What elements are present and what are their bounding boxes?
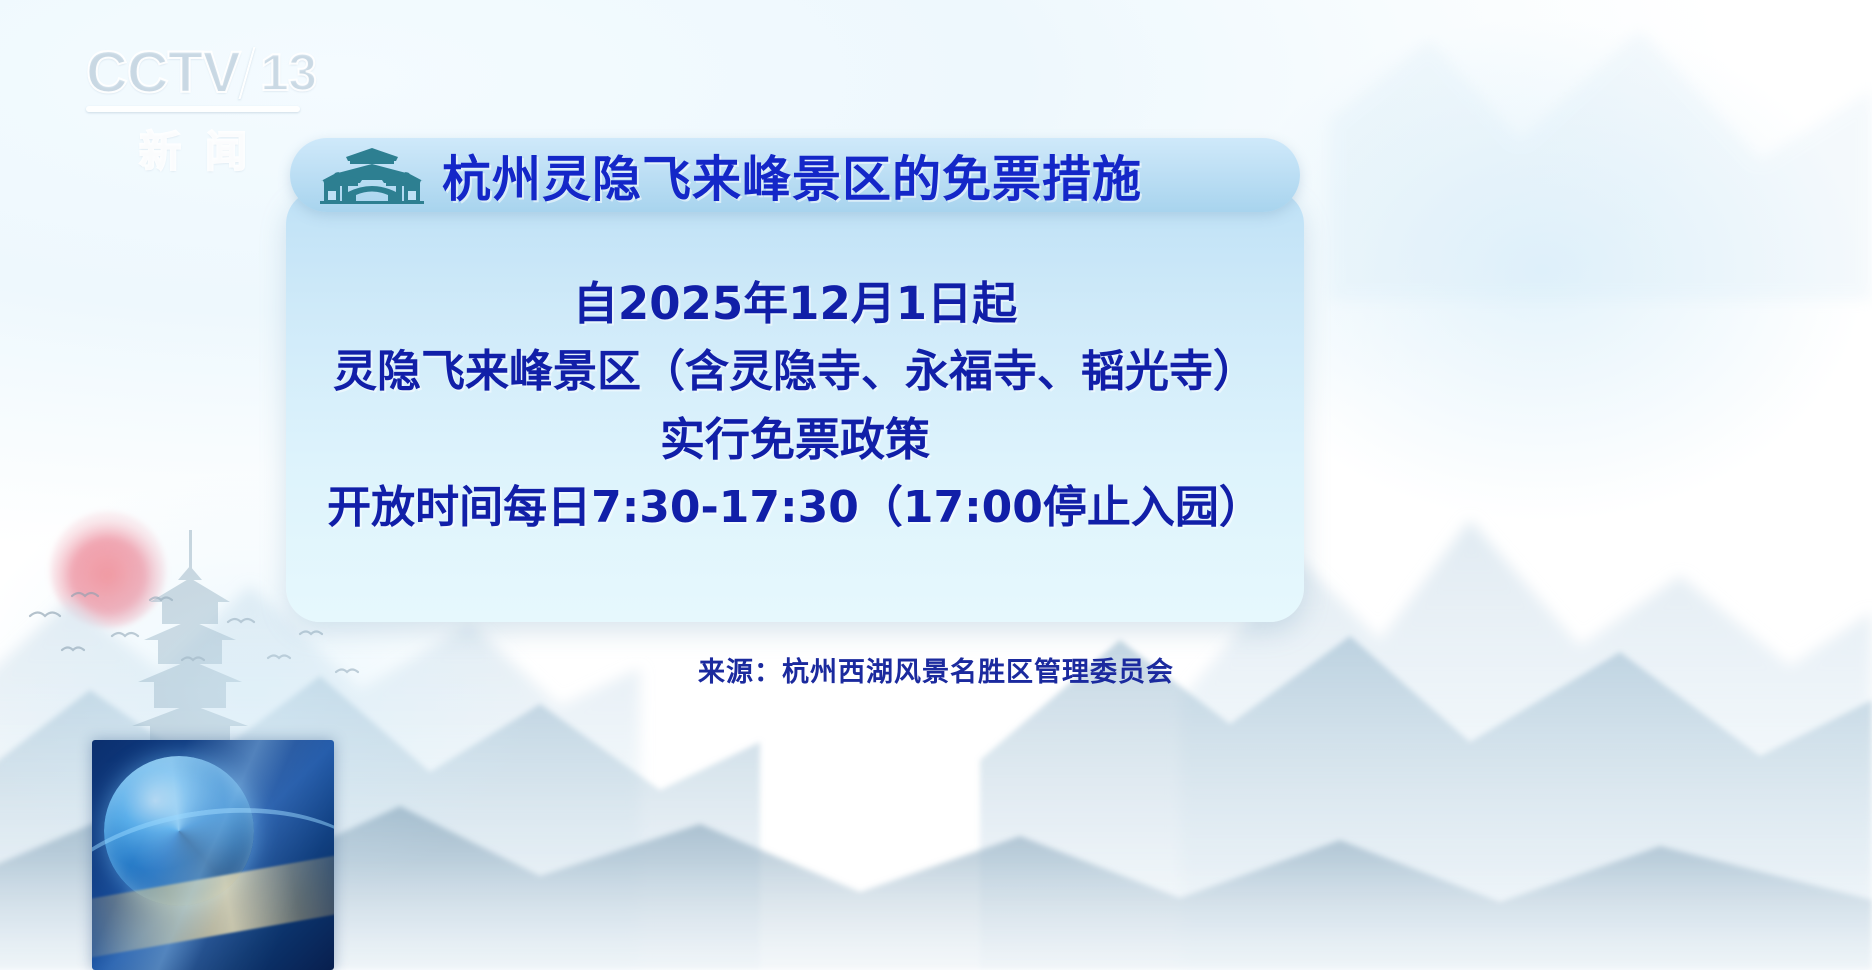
card-body-line-1: 自2025年12月1日起: [573, 270, 1017, 338]
card-body-line-2: 灵隐飞来峰景区（含灵隐寺、永福寺、韬光寺）: [333, 338, 1257, 406]
sheen-overlay: [92, 740, 334, 970]
card-title-pill: 杭州灵隐飞来峰景区的免票措施: [290, 138, 1300, 212]
broadcast-graphic-stage: CCTV 13 新闻: [0, 0, 1872, 970]
chinese-gate-paifang-icon: [320, 146, 424, 204]
card-body-line-3: 实行免票政策: [660, 406, 930, 474]
card-body-line-4: 开放时间每日7:30-17:30（17:00停止入园）: [327, 474, 1263, 542]
upper-right-peaks: [1330, 30, 1872, 300]
news-globe-bug-icon: [92, 740, 334, 970]
source-attribution: 来源：杭州西湖风景名胜区管理委员会: [0, 650, 1872, 689]
card-title: 杭州灵隐飞来峰景区的免票措施: [442, 140, 1142, 211]
card-body: 自2025年12月1日起 灵隐飞来峰景区（含灵隐寺、永福寺、韬光寺） 实行免票政…: [300, 258, 1290, 542]
